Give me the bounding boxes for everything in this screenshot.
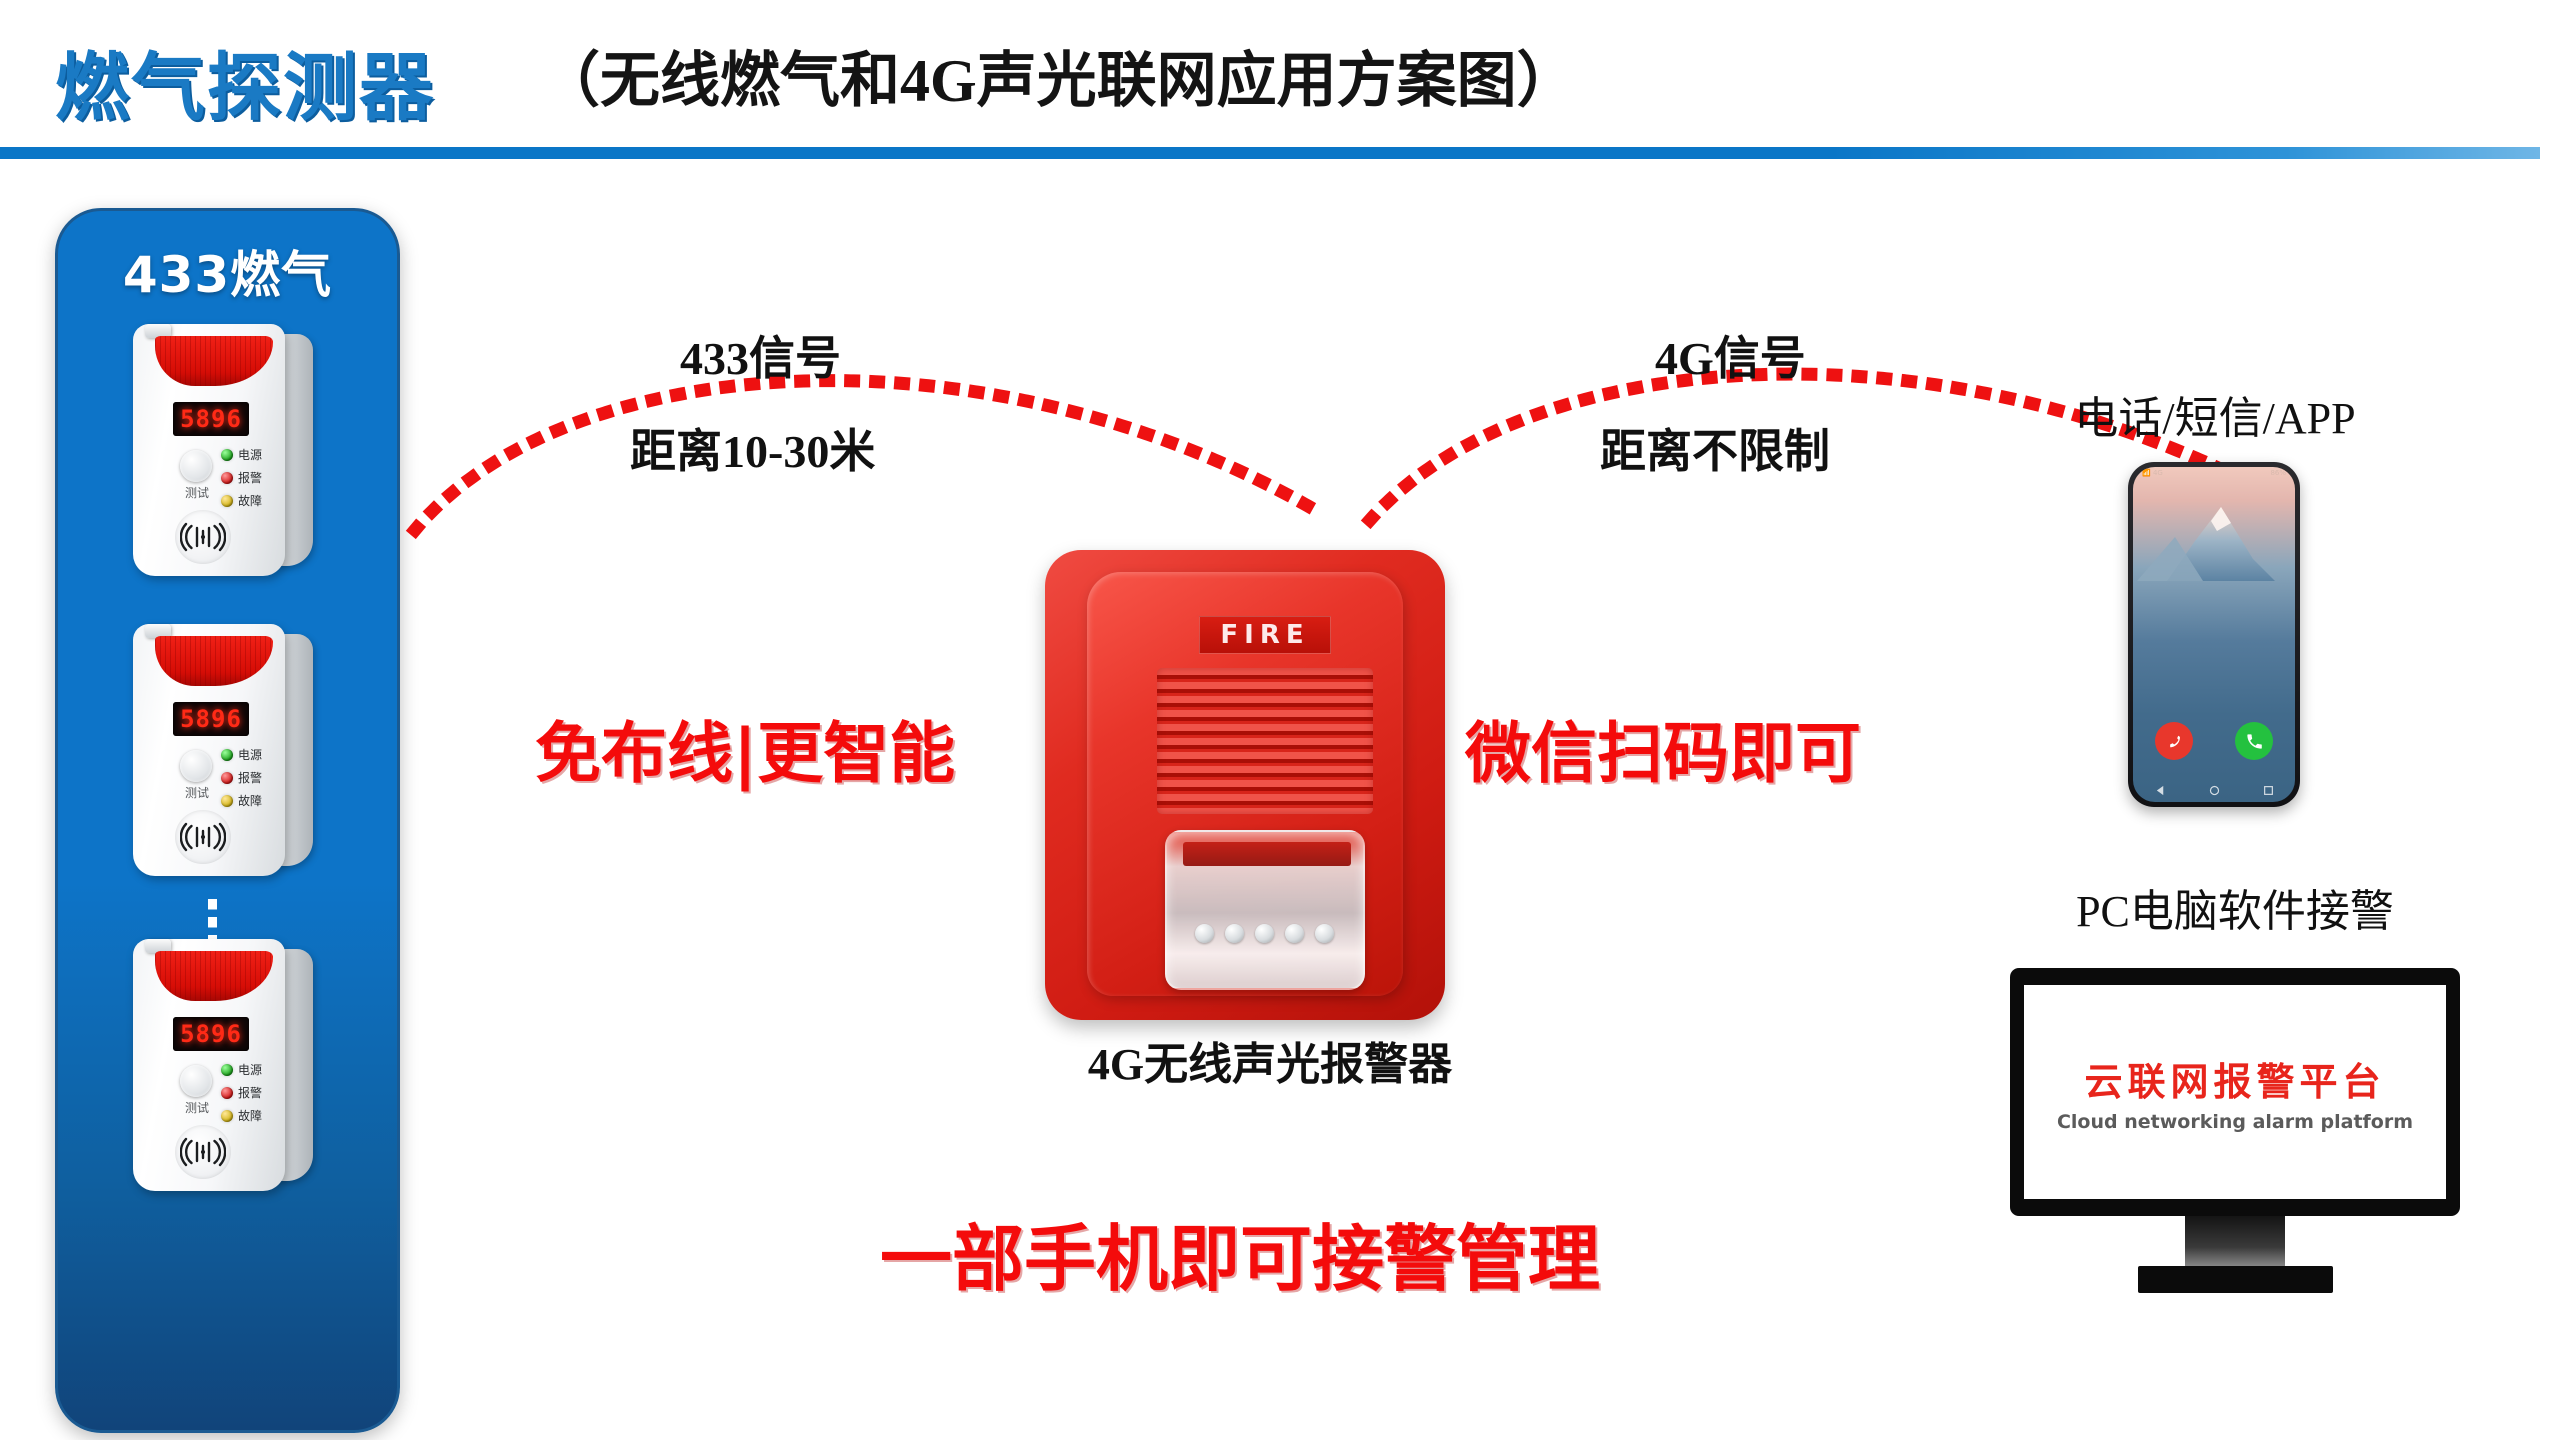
indicator-fault: 故障 [221, 792, 262, 809]
page-subtitle: （无线燃气和4G声光联网应用方案图） [540, 32, 1577, 119]
arc-right-label-bottom: 距离不限制 [1600, 415, 1830, 481]
detector-panel: 433燃气 5896 测试 电源 报警 [55, 208, 400, 1433]
lens-top-strip [1183, 842, 1351, 866]
strobe-led-icon [1285, 924, 1304, 943]
detector-front-shell: 5896 测试 电源 报警 故障 [133, 624, 285, 876]
gas-detector-device[interactable]: 5896 测试 电源 报警 故障 [133, 931, 318, 1196]
strobe-led-group [1195, 924, 1334, 943]
status-signal-text: 📶 4G [2142, 469, 2163, 479]
alarm-front-body: FIRE [1087, 572, 1403, 996]
detector-panel-label: 433燃气 [58, 235, 397, 307]
indicator-fault-label: 故障 [238, 492, 262, 509]
sound-center-dot [201, 1150, 205, 1154]
detector-test-button-label: 测试 [175, 484, 219, 501]
indicator-alarm-label: 报警 [238, 769, 262, 786]
monitor-bezel: 云联网报警平台 Cloud networking alarm platform [2010, 968, 2460, 1216]
platform-title-cn: 云联网报警平台 [2084, 1051, 2385, 1106]
gas-detector-device[interactable]: 5896 测试 电源 报警 故障 [133, 316, 318, 581]
phone-status-bar: 📶 4G 86% [2133, 467, 2295, 481]
speaker-grille [175, 510, 231, 564]
indicator-fault-label: 故障 [238, 792, 262, 809]
recents-square-icon [2263, 785, 2274, 796]
fire-alarm-caption: 4G无线声光报警器 [1040, 1028, 1500, 1092]
sound-wave-icon [180, 1132, 226, 1172]
speaker-grille [175, 1125, 231, 1179]
detector-test-button[interactable] [180, 750, 212, 782]
speaker-grille [175, 810, 231, 864]
indicator-power: 电源 [221, 1061, 262, 1078]
detector-display-value: 5896 [180, 1020, 242, 1048]
indicator-alarm: 报警 [221, 769, 262, 786]
arc-right-label-top: 4G信号 [1655, 322, 1806, 388]
monitor-stand-base [2138, 1266, 2333, 1293]
strobe-led-icon [1255, 924, 1274, 943]
indicator-fault: 故障 [221, 1107, 262, 1124]
detector-led-display: 5896 [173, 402, 249, 436]
detector-front-shell: 5896 测试 电源 报警 故障 [133, 324, 285, 576]
indicator-alarm: 报警 [221, 1084, 262, 1101]
back-triangle-icon [2155, 785, 2166, 796]
indicator-power: 电源 [221, 446, 262, 463]
detector-indicator-group: 电源 报警 故障 [221, 1061, 262, 1130]
sound-wave-icon [180, 517, 226, 557]
indicator-power-label: 电源 [238, 1061, 262, 1078]
status-battery-text: 86% [2270, 469, 2286, 479]
detector-indicator-group: 电源 报警 故障 [221, 446, 262, 515]
fault-led-icon [221, 795, 233, 807]
strobe-led-icon [1315, 924, 1334, 943]
detector-test-button-label: 测试 [175, 1099, 219, 1116]
platform-title-en: Cloud networking alarm platform [2057, 1111, 2413, 1133]
indicator-alarm-label: 报警 [238, 1084, 262, 1101]
indicator-power-label: 电源 [238, 446, 262, 463]
pc-monitor-device[interactable]: 云联网报警平台 Cloud networking alarm platform [2010, 968, 2460, 1293]
wallpaper-mountain-image [2133, 489, 2295, 609]
detector-led-display: 5896 [173, 1017, 249, 1051]
page-header: 燃气探测器 （无线燃气和4G声光联网应用方案图） [0, 0, 2560, 160]
indicator-power-label: 电源 [238, 746, 262, 763]
sound-wave-icon [180, 817, 226, 857]
detector-test-button[interactable] [180, 1065, 212, 1097]
detector-test-button-label: 测试 [175, 784, 219, 801]
indicator-alarm-label: 报警 [238, 469, 262, 486]
header-divider [0, 147, 2540, 159]
detector-red-cap [155, 336, 273, 386]
alarm-strobe-lens [1165, 830, 1365, 990]
slogan-bottom: 一部手机即可接警管理 [880, 1200, 1600, 1305]
gas-detector-device[interactable]: 5896 测试 电源 报警 故障 [133, 616, 318, 881]
strobe-led-icon [1225, 924, 1244, 943]
fire-label-plate: FIRE [1199, 616, 1331, 654]
power-led-icon [221, 1064, 233, 1076]
detector-display-value: 5896 [180, 705, 242, 733]
detector-indicator-group: 电源 报警 故障 [221, 746, 262, 815]
phone-answer-icon [2245, 732, 2264, 751]
slogan-right: 微信扫码即可 [1465, 700, 1861, 796]
phone-caption: 电话/短信/APP [1985, 382, 2445, 446]
indicator-alarm: 报警 [221, 469, 262, 486]
indicator-power: 电源 [221, 746, 262, 763]
arc-left-label-bottom: 距离10-30米 [630, 415, 875, 481]
detector-front-shell: 5896 测试 电源 报警 故障 [133, 939, 285, 1191]
fire-label-text: FIRE [1220, 620, 1309, 650]
detector-test-button[interactable] [180, 450, 212, 482]
decline-call-button[interactable] [2155, 722, 2193, 760]
detector-red-cap [155, 636, 273, 686]
strobe-led-icon [1195, 924, 1214, 943]
monitor-screen: 云联网报警平台 Cloud networking alarm platform [2024, 985, 2446, 1199]
indicator-fault: 故障 [221, 492, 262, 509]
phone-hangup-icon [2165, 732, 2184, 751]
smartphone-device[interactable]: 📶 4G 86% [2128, 462, 2300, 807]
page-title: 燃气探测器 [55, 28, 435, 135]
power-led-icon [221, 749, 233, 761]
pc-caption: PC电脑软件接警 [1985, 875, 2485, 939]
monitor-stand-neck [2185, 1216, 2285, 1268]
home-circle-icon [2209, 785, 2220, 796]
alarm-speaker-louvers [1157, 668, 1373, 814]
slogan-left: 免布线|更智能 [535, 700, 955, 796]
signal-arc-433 [385, 330, 1385, 560]
detector-display-value: 5896 [180, 405, 242, 433]
alarm-led-icon [221, 1087, 233, 1099]
fault-led-icon [221, 495, 233, 507]
alarm-led-icon [221, 772, 233, 784]
sound-center-dot [201, 535, 205, 539]
fault-led-icon [221, 1110, 233, 1122]
power-led-icon [221, 449, 233, 461]
fire-alarm-device[interactable]: FIRE [1045, 550, 1445, 1020]
detector-red-cap [155, 951, 273, 1001]
phone-screen: 📶 4G 86% [2133, 467, 2295, 802]
phone-nav-bar[interactable] [2133, 778, 2295, 802]
accept-call-button[interactable] [2235, 722, 2273, 760]
detector-led-display: 5896 [173, 702, 249, 736]
indicator-fault-label: 故障 [238, 1107, 262, 1124]
sound-center-dot [201, 835, 205, 839]
arc-left-label-top: 433信号 [680, 322, 841, 388]
alarm-led-icon [221, 472, 233, 484]
